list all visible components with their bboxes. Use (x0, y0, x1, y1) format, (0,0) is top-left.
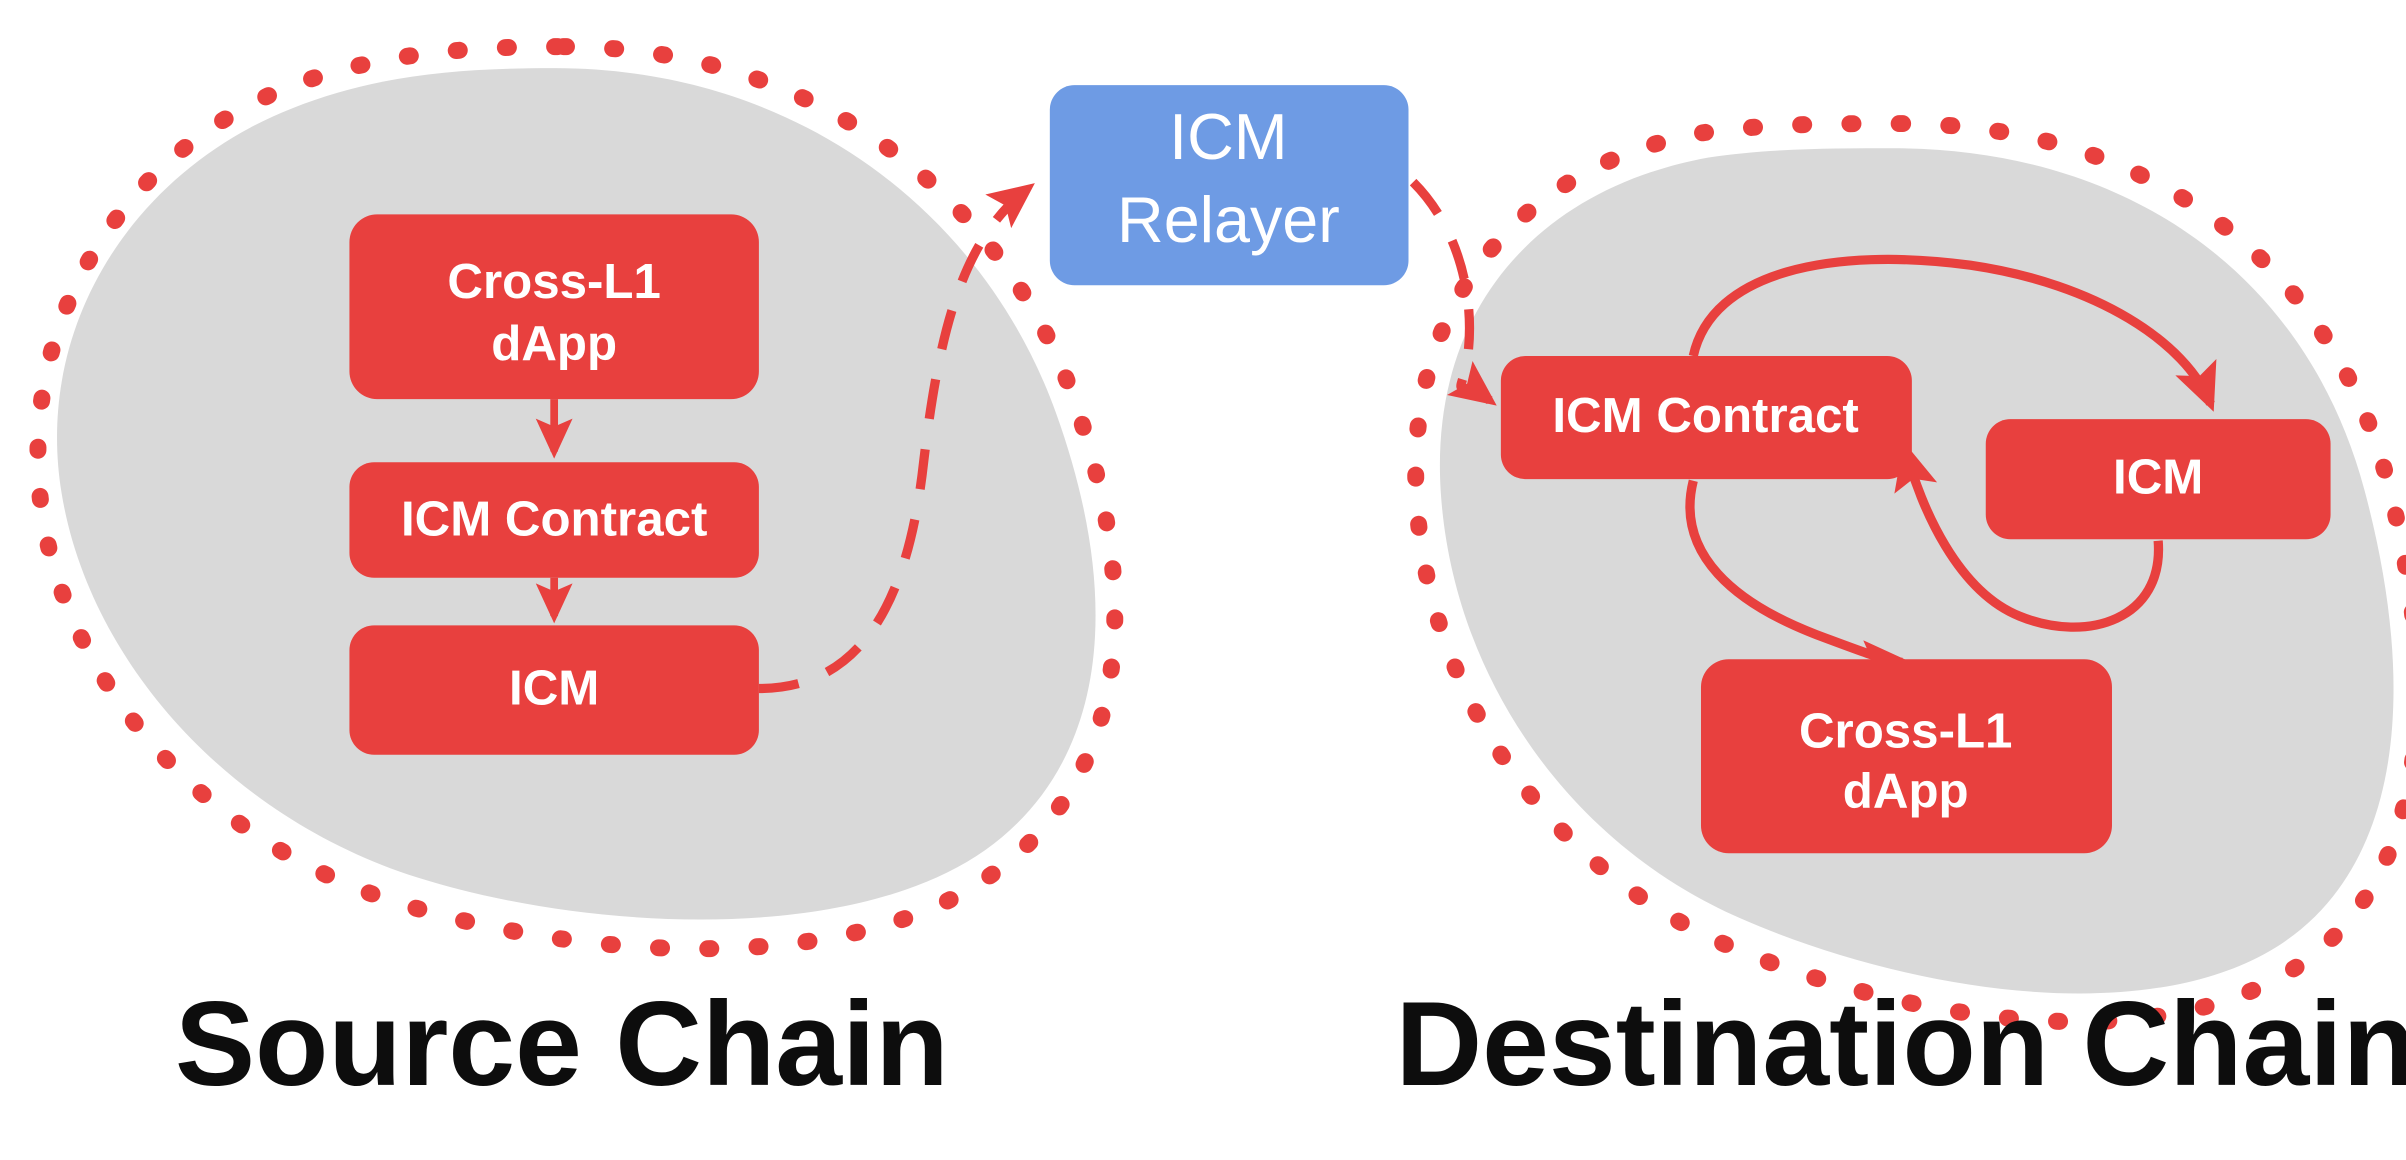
icm-relayer-label-line1: ICM (1169, 100, 1288, 173)
destination-icm-contract-node[interactable]: ICM Contract (1501, 356, 1912, 479)
source-icm-contract-node[interactable]: ICM Contract (349, 462, 758, 577)
destination-icm-node[interactable]: ICM (1986, 419, 2331, 539)
icm-flow-diagram: Cross-L1 dApp ICM Contract ICM ICM Relay… (0, 0, 2406, 1160)
destination-cross-l1-dapp-label-line1: Cross-L1 (1799, 704, 2012, 759)
source-cross-l1-dapp-label-line2: dApp (491, 316, 617, 371)
source-icm-contract-label: ICM Contract (401, 491, 707, 546)
diagram-canvas: Cross-L1 dApp ICM Contract ICM ICM Relay… (0, 0, 2406, 1160)
destination-chain-blob-fill (1440, 148, 2394, 993)
source-cross-l1-dapp-label-line1: Cross-L1 (447, 254, 660, 309)
destination-cross-l1-dapp-node[interactable]: Cross-L1 dApp (1701, 659, 2112, 853)
source-icm-node[interactable]: ICM (349, 625, 758, 754)
destination-chain-caption: Destination Chain (1395, 977, 2406, 1111)
source-icm-label: ICM (509, 661, 599, 716)
destination-cross-l1-dapp-label-line2: dApp (1843, 764, 1969, 819)
source-cross-l1-dapp-node[interactable]: Cross-L1 dApp (349, 214, 758, 399)
destination-icm-contract-label: ICM Contract (1552, 388, 1858, 443)
source-chain-caption: Source Chain (175, 977, 949, 1111)
destination-icm-label: ICM (2113, 450, 2203, 505)
icm-relayer-node[interactable]: ICM Relayer (1050, 85, 1409, 285)
icm-relayer-label-line2: Relayer (1117, 183, 1340, 256)
